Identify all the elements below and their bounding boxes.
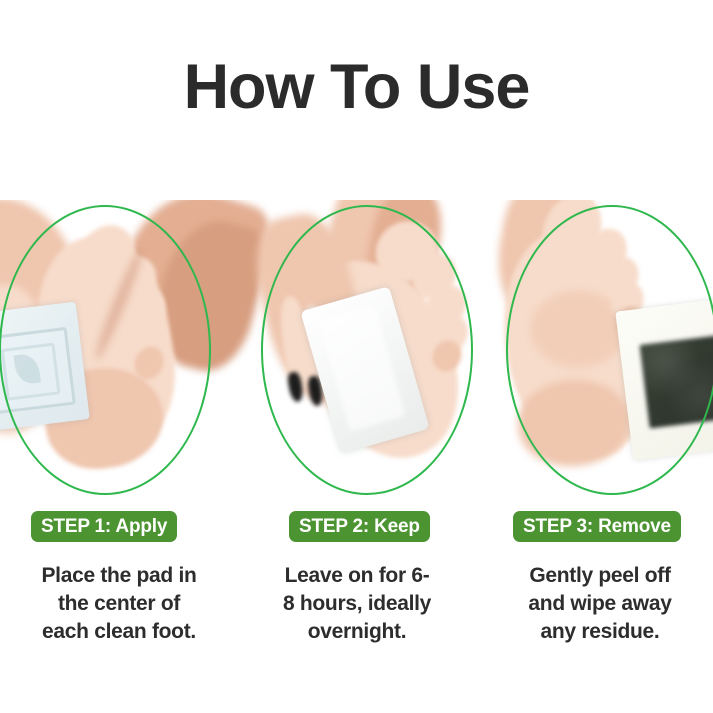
step-2-illustration xyxy=(237,200,497,500)
step-badges: STEP 1: Apply STEP 2: Keep STEP 3: Remov… xyxy=(0,511,713,545)
step-caption-2: Leave on for 6- 8 hours, ideally overnig… xyxy=(250,562,464,646)
step-3-photo xyxy=(482,200,713,500)
caption-line: each clean foot. xyxy=(8,618,230,646)
step-caption-1: Place the pad in the center of each clea… xyxy=(8,562,230,646)
caption-line: Leave on for 6- xyxy=(250,562,464,590)
detox-pad-new xyxy=(0,302,90,433)
step-2-photo xyxy=(237,200,497,500)
step-1-illustration xyxy=(0,200,235,500)
caption-line: overnight. xyxy=(250,618,464,646)
caption-line: and wipe away xyxy=(492,590,708,618)
caption-line: Gently peel off xyxy=(492,562,708,590)
step-badge-1[interactable]: STEP 1: Apply xyxy=(31,511,177,542)
step-1-photo xyxy=(0,200,235,500)
step-photos xyxy=(0,200,713,500)
caption-line: 8 hours, ideally xyxy=(250,590,464,618)
detox-pad-used xyxy=(615,297,713,460)
how-to-use-infographic: How To Use xyxy=(0,0,713,713)
step-caption-3: Gently peel off and wipe away any residu… xyxy=(492,562,708,646)
caption-line: the center of xyxy=(8,590,230,618)
caption-line: Place the pad in xyxy=(8,562,230,590)
page-title: How To Use xyxy=(0,56,713,119)
caption-line: any residue. xyxy=(492,618,708,646)
pad-residue xyxy=(640,335,713,428)
step-badge-3[interactable]: STEP 3: Remove xyxy=(513,511,681,542)
step-badge-2[interactable]: STEP 2: Keep xyxy=(289,511,430,542)
step-3-illustration xyxy=(482,200,713,500)
